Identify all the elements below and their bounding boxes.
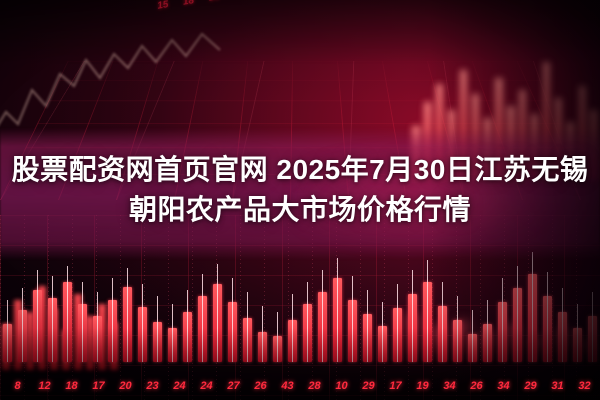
axis-labels-bottom: 8121817202324242726432810291719342634293… (4, 380, 600, 392)
axis-label: 43 (274, 380, 301, 392)
axis-label: 8 (4, 380, 31, 392)
axis-label: 24 (166, 380, 193, 392)
axis-label: 12 (31, 380, 58, 392)
axis-label: 31 (544, 380, 571, 392)
axis-label: 18 (58, 380, 85, 392)
axis-label: 20 (112, 380, 139, 392)
axis-label: 17 (382, 380, 409, 392)
axis-label: 26 (463, 380, 490, 392)
axis-label: 29 (355, 380, 382, 392)
banner-image: 15181821302742 8121817202324242726432810… (0, 0, 600, 400)
axis-label: 34 (436, 380, 463, 392)
axis-label: 34 (490, 380, 517, 392)
axis-label: 23 (139, 380, 166, 392)
axis-label: 26 (247, 380, 274, 392)
axis-label: 24 (193, 380, 220, 392)
title-line-2: 朝阳农产品大市场价格行情 (0, 190, 600, 230)
axis-label: 10 (328, 380, 355, 392)
title-line-1: 股票配资网首页官网 2025年7月30日江苏无锡 (0, 150, 600, 190)
axis-label: 19 (409, 380, 436, 392)
axis-label: 32 (571, 380, 598, 392)
axis-label: 27 (220, 380, 247, 392)
page-title: 股票配资网首页官网 2025年7月30日江苏无锡 朝阳农产品大市场价格行情 (0, 150, 600, 230)
axis-label: 28 (301, 380, 328, 392)
axis-label: 29 (517, 380, 544, 392)
axis-label: 17 (85, 380, 112, 392)
